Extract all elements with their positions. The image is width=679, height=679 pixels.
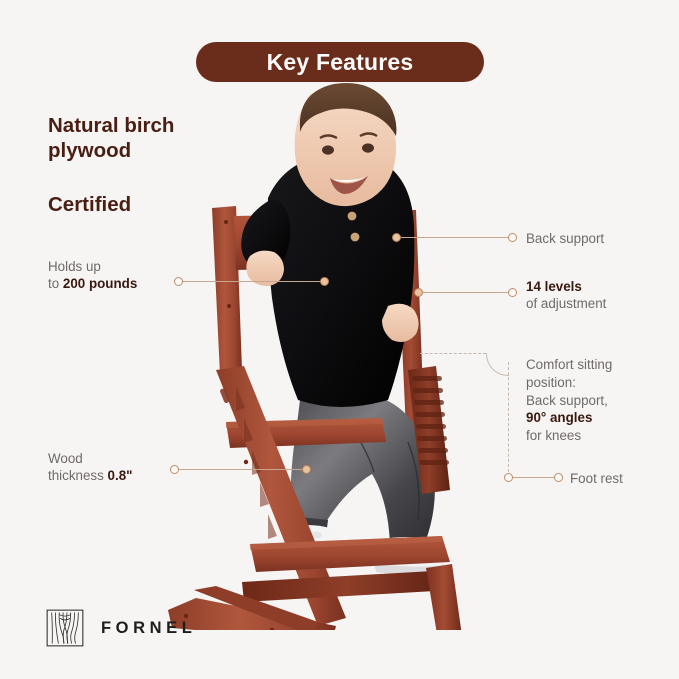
callout-line: 90° angles [526, 409, 612, 427]
callout-line: 14 levels [526, 278, 606, 295]
dashed-leader-comfort-horizontal [420, 353, 486, 354]
connector-line-weight [178, 281, 324, 282]
callout-line: Foot rest [570, 470, 623, 487]
brand-logo: FORNEL [46, 609, 196, 647]
callout-comfort-sitting-position: Comfort sitting position: Back support, … [526, 356, 612, 445]
callout-emphasis: 200 pounds [63, 276, 137, 291]
callout-line: Back support, [526, 392, 612, 410]
dashed-leader-comfort-vertical [508, 362, 509, 472]
connector-dot-back-support-end [508, 233, 517, 242]
brand-wordmark: FORNEL [101, 619, 196, 638]
infographic-canvas: Key Features Natural birch plywood Certi… [0, 0, 679, 679]
connector-line-levels [418, 292, 512, 293]
highlight-certified: Certified [48, 192, 131, 217]
connector-dot-levels-end [508, 288, 517, 297]
callout-line: of adjustment [526, 295, 606, 312]
callout-emphasis: 0.8" [108, 468, 133, 483]
callout-foot-rest: Foot rest [570, 470, 623, 487]
callout-line: Back support [526, 230, 604, 247]
connector-dot-foot-rest-start [504, 473, 513, 482]
callout-line: position: [526, 374, 612, 392]
wood-grain-square-icon [46, 609, 84, 647]
callout-back-support: Back support [526, 230, 604, 247]
connector-dot-levels-start [414, 288, 423, 297]
connector-dot-thickness-end [302, 465, 311, 474]
connector-dot-weight-end [320, 277, 329, 286]
callout-line: for knees [526, 427, 612, 445]
connector-dot-foot-rest-end [554, 473, 563, 482]
page-title: Key Features [267, 49, 414, 76]
callout-line: to 200 pounds [48, 275, 137, 292]
highlight-natural-birch-plywood: Natural birch plywood [48, 113, 228, 163]
callout-holds-up-to-200-pounds: Holds up to 200 pounds [48, 258, 137, 293]
callout-emphasis: 14 levels [526, 279, 582, 294]
callout-14-levels-of-adjustment: 14 levels of adjustment [526, 278, 606, 313]
connector-line-back-support [396, 237, 512, 238]
callout-line: Holds up [48, 258, 137, 275]
callout-line: thickness 0.8" [48, 467, 133, 484]
callout-line: Comfort sitting [526, 356, 612, 374]
callout-line: Wood [48, 450, 133, 467]
connector-dot-back-support-start [392, 233, 401, 242]
callout-wood-thickness: Wood thickness 0.8" [48, 450, 133, 485]
connector-dot-thickness-start [170, 465, 179, 474]
connector-line-thickness [174, 469, 306, 470]
connector-line-foot-rest [512, 477, 558, 478]
connector-dot-weight-start [174, 277, 183, 286]
key-features-title-badge: Key Features [196, 42, 484, 82]
callout-emphasis: 90° angles [526, 410, 592, 425]
